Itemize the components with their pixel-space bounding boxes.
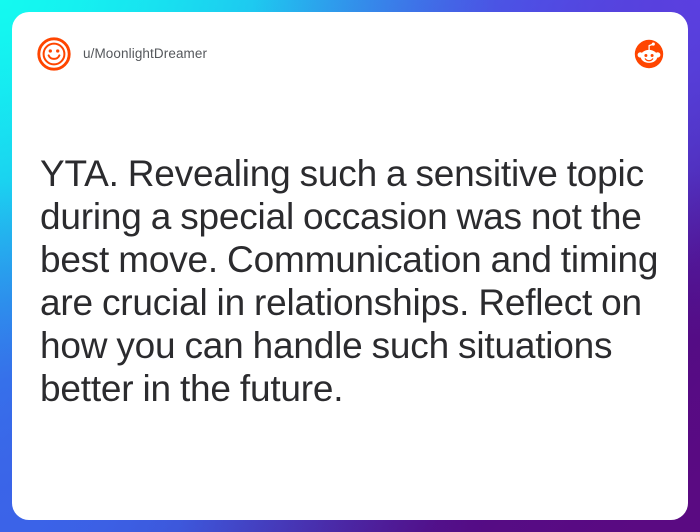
post-body-text: YTA. Revealing such a sensitive topic du… xyxy=(40,152,672,410)
reddit-snoo-icon[interactable] xyxy=(634,39,664,69)
screenshot-stage: u/MoonlightDreamer xyxy=(0,0,700,532)
author-username: u/MoonlightDreamer xyxy=(83,47,207,61)
reddit-post-card: u/MoonlightDreamer xyxy=(12,12,688,520)
post-header: u/MoonlightDreamer xyxy=(12,12,688,96)
author-block[interactable]: u/MoonlightDreamer xyxy=(36,36,207,72)
smiley-face-avatar-icon[interactable] xyxy=(36,36,72,72)
